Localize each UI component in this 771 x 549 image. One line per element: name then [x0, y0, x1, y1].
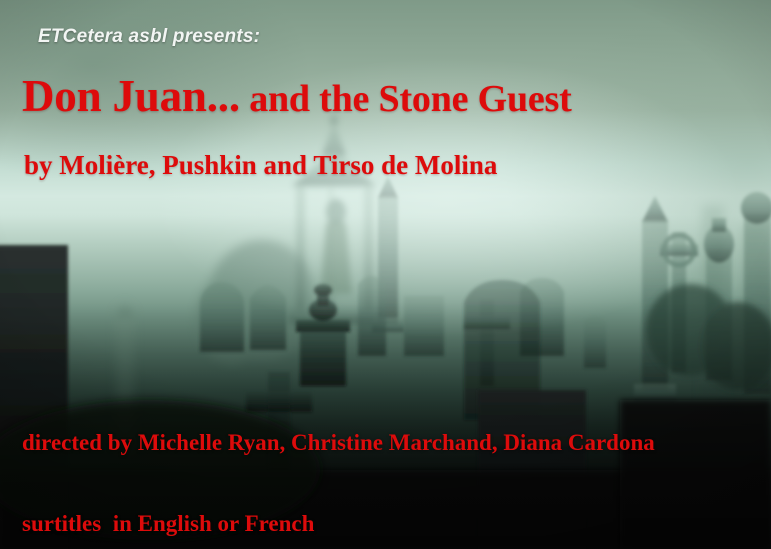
title-main: Don Juan... [22, 71, 240, 121]
theatre-poster: ETCetera asbl presents: Don Juan... and … [0, 0, 771, 549]
title-subtitle: and the Stone Guest [240, 78, 572, 120]
directors-line: directed by Michelle Ryan, Christine Mar… [22, 429, 655, 456]
authors-line: by Molière, Pushkin and Tirso de Molina [24, 150, 497, 181]
page-title: Don Juan... and the Stone Guest [22, 74, 572, 121]
surtitles-line: surtitles in English or French [22, 510, 655, 537]
credits-block: directed by Michelle Ryan, Christine Mar… [22, 375, 655, 549]
presenter-line: ETCetera asbl presents: [38, 26, 260, 48]
